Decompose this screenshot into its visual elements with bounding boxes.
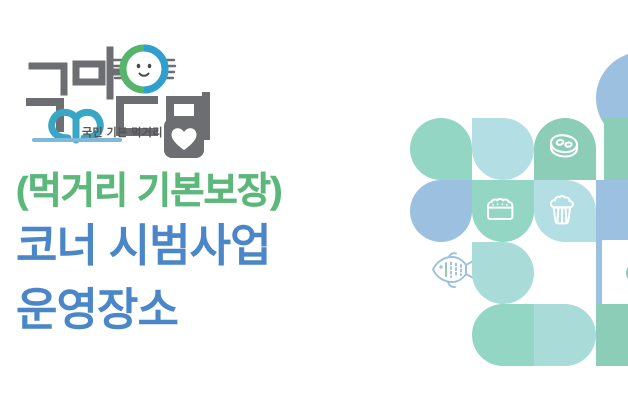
headline-line-3: 운영장소 <box>16 282 406 338</box>
fish-icon-wrap <box>430 250 478 290</box>
blob-mint-r4-circle-edge <box>602 240 628 306</box>
blob-blue-r3-edge <box>596 180 628 242</box>
blob-mint-r3c2-bread <box>472 180 534 242</box>
smiley-face-circle <box>113 48 175 90</box>
blob-aqua-r3c3-cupcake <box>534 180 596 242</box>
promotional-banner: 국민 기본 먹거리 (먹거리 기본보장) 코너 시범사업 운영장소 <box>0 0 628 401</box>
logo-tagline: 국민 기본 먹거리 <box>82 124 163 140</box>
blob-mint-r2c1 <box>410 118 472 180</box>
heart-badge <box>164 118 204 158</box>
headline-line-1: (먹거리 기본보장) <box>16 168 406 214</box>
logo-artwork <box>24 42 214 160</box>
blob-aqua-r2c2 <box>472 118 534 180</box>
blob-aqua-r4c1 <box>472 242 534 304</box>
blob-mint-r5-edge <box>596 304 628 366</box>
blob-mint-r2-edge <box>604 118 628 180</box>
logo-top-glyphs <box>32 50 122 96</box>
headline-line-2: 코너 시범사업 <box>16 218 406 274</box>
headline-block: (먹거리 기본보장) 코너 시범사업 운영장소 <box>16 168 406 338</box>
fish-icon <box>433 253 475 287</box>
face-fill <box>130 55 159 84</box>
blob-blue-r3c1 <box>410 180 472 242</box>
decorative-graphic-panel <box>406 0 628 401</box>
blob-aqua-r5c2 <box>534 304 596 366</box>
brand-logo: 국민 기본 먹거리 <box>24 42 214 157</box>
blob-mint-r5c1 <box>472 304 534 366</box>
blob-mint-r2c3-steak <box>534 118 604 180</box>
